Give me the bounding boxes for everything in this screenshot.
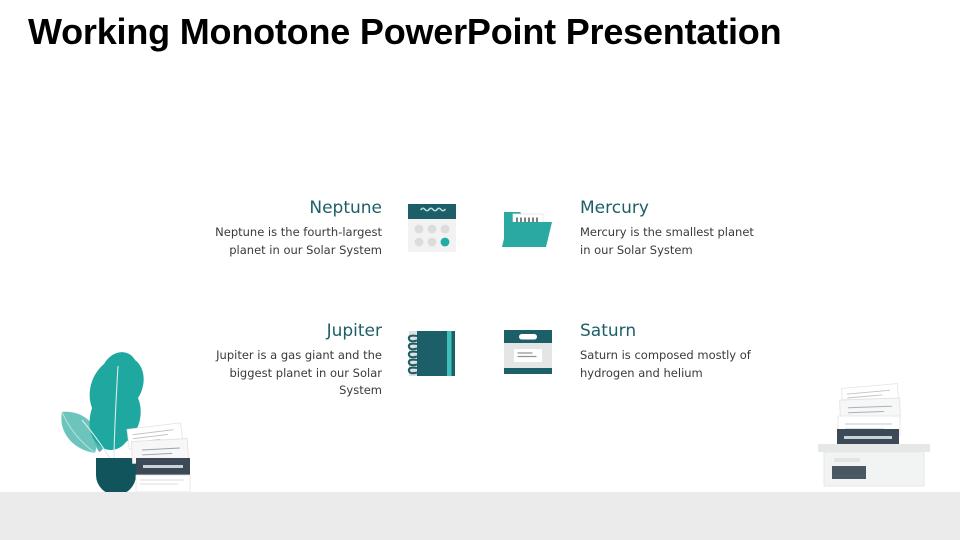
potted-plant-decoration [48,340,193,492]
notebook-icon [404,325,460,381]
content-block-saturn: Saturn Saturn is composed mostly of hydr… [580,320,760,382]
bottom-band [0,492,960,540]
storage-box-decoration [812,382,938,492]
content-block-neptune: Neptune Neptune is the fourth-largest pl… [201,197,382,259]
block-body-neptune: Neptune is the fourth-largest planet in … [201,224,382,259]
briefcase-icon [500,324,556,380]
block-body-mercury: Mercury is the smallest planet in our So… [580,224,755,259]
content-block-mercury: Mercury Mercury is the smallest planet i… [580,197,755,259]
calculator-icon [404,200,460,256]
folder-icon [500,200,556,256]
page-title: Working Monotone PowerPoint Presentation [28,10,938,54]
block-body-jupiter: Jupiter is a gas giant and the biggest p… [201,347,382,400]
content-block-jupiter: Jupiter Jupiter is a gas giant and the b… [201,320,382,400]
block-heading-mercury: Mercury [580,197,755,219]
block-heading-neptune: Neptune [201,197,382,219]
block-heading-jupiter: Jupiter [201,320,382,342]
block-body-saturn: Saturn is composed mostly of hydrogen an… [580,347,760,382]
block-heading-saturn: Saturn [580,320,760,342]
slide-canvas: Working Monotone PowerPoint Presentation… [0,0,960,540]
